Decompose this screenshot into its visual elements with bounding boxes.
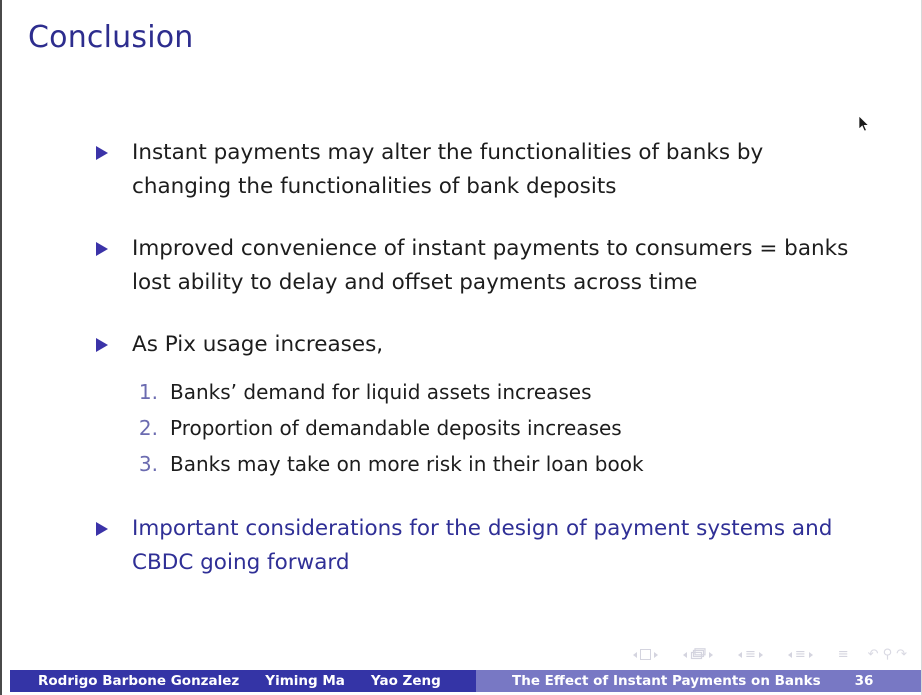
bullet-item-important-considerations: Important considerations for the design … <box>94 512 854 580</box>
slide-body: Instant payments may alter the functiona… <box>94 136 854 603</box>
back-icon[interactable]: ↶ <box>868 647 879 662</box>
bullet-text: Improved convenience of instant payments… <box>132 232 854 300</box>
triangle-bullet-icon <box>96 242 108 256</box>
author-name: Yiming Ma <box>265 673 345 689</box>
bullet-text: Important considerations for the design … <box>132 512 854 580</box>
frame-current-icon[interactable] <box>690 645 706 664</box>
forward-icon[interactable]: ↷ <box>896 647 907 662</box>
footer-paper-title: The Effect of Instant Payments on Banks <box>512 673 821 689</box>
list-item-number: 2. <box>132 410 158 446</box>
bullet-item-instant-payments: Instant payments may alter the functiona… <box>94 136 854 204</box>
frame-navigation-group[interactable] <box>683 645 713 664</box>
subsection-navigation-group[interactable]: ≡ <box>738 648 763 661</box>
bullet-item-pix-usage: As Pix usage increases, 1. Banks’ demand… <box>94 328 854 482</box>
page-title: Conclusion <box>28 20 194 55</box>
subsection-next-icon[interactable] <box>759 652 763 658</box>
section-next-icon[interactable] <box>809 652 813 658</box>
bullet-text: Instant payments may alter the functiona… <box>132 136 854 204</box>
section-previous-icon[interactable] <box>788 652 792 658</box>
bullet-item-improved-convenience: Improved convenience of instant payments… <box>94 232 854 300</box>
subsection-current-icon[interactable]: ≡ <box>745 648 756 661</box>
list-item-number: 1. <box>132 374 158 410</box>
list-item: 3. Banks may take on more risk in their … <box>132 446 854 482</box>
list-item: 1. Banks’ demand for liquid assets incre… <box>132 374 854 410</box>
list-item-label: Banks’ demand for liquid assets increase… <box>170 380 592 404</box>
mouse-cursor <box>859 116 871 134</box>
footer-authors: Rodrigo Barbone Gonzalez Yiming Ma Yao Z… <box>10 670 476 692</box>
author-name: Yao Zeng <box>371 673 441 689</box>
footer-page-number: 36 <box>855 673 874 689</box>
author-name: Rodrigo Barbone Gonzalez <box>38 673 239 689</box>
document-tools-group[interactable]: ↶ ⚲ ↷ <box>868 647 907 662</box>
slide-current-icon[interactable] <box>640 649 651 660</box>
bullet-text: As Pix usage increases, <box>132 328 854 362</box>
slide-previous-icon[interactable] <box>633 652 637 658</box>
list-item-label: Proportion of demandable deposits increa… <box>170 416 622 440</box>
frame-previous-icon[interactable] <box>683 652 687 658</box>
presentation-slide: Conclusion Instant payments may alter th… <box>0 0 922 695</box>
list-item-label: Banks may take on more risk in their loa… <box>170 452 644 476</box>
section-current-icon[interactable]: ≡ <box>795 648 806 661</box>
list-item: 2. Proportion of demandable deposits inc… <box>132 410 854 446</box>
section-navigation-group[interactable]: ≡ <box>788 648 813 661</box>
slide-footer: Rodrigo Barbone Gonzalez Yiming Ma Yao Z… <box>10 670 921 692</box>
search-icon[interactable]: ⚲ <box>883 647 893 662</box>
slide-navigation-group[interactable] <box>633 649 658 660</box>
triangle-bullet-icon <box>96 338 108 352</box>
slide-next-icon[interactable] <box>654 652 658 658</box>
footer-title-and-page: The Effect of Instant Payments on Banks … <box>476 670 921 692</box>
list-item-number: 3. <box>132 446 158 482</box>
triangle-bullet-icon <box>96 522 108 536</box>
presentation-icon[interactable]: ≡ <box>838 648 849 661</box>
numbered-list: 1. Banks’ demand for liquid assets incre… <box>132 374 854 482</box>
triangle-bullet-icon <box>96 146 108 160</box>
beamer-navigation-bar[interactable]: ≡ ≡ ≡ ↶ ⚲ ↷ <box>633 645 907 664</box>
subsection-previous-icon[interactable] <box>738 652 742 658</box>
frame-next-icon[interactable] <box>709 652 713 658</box>
